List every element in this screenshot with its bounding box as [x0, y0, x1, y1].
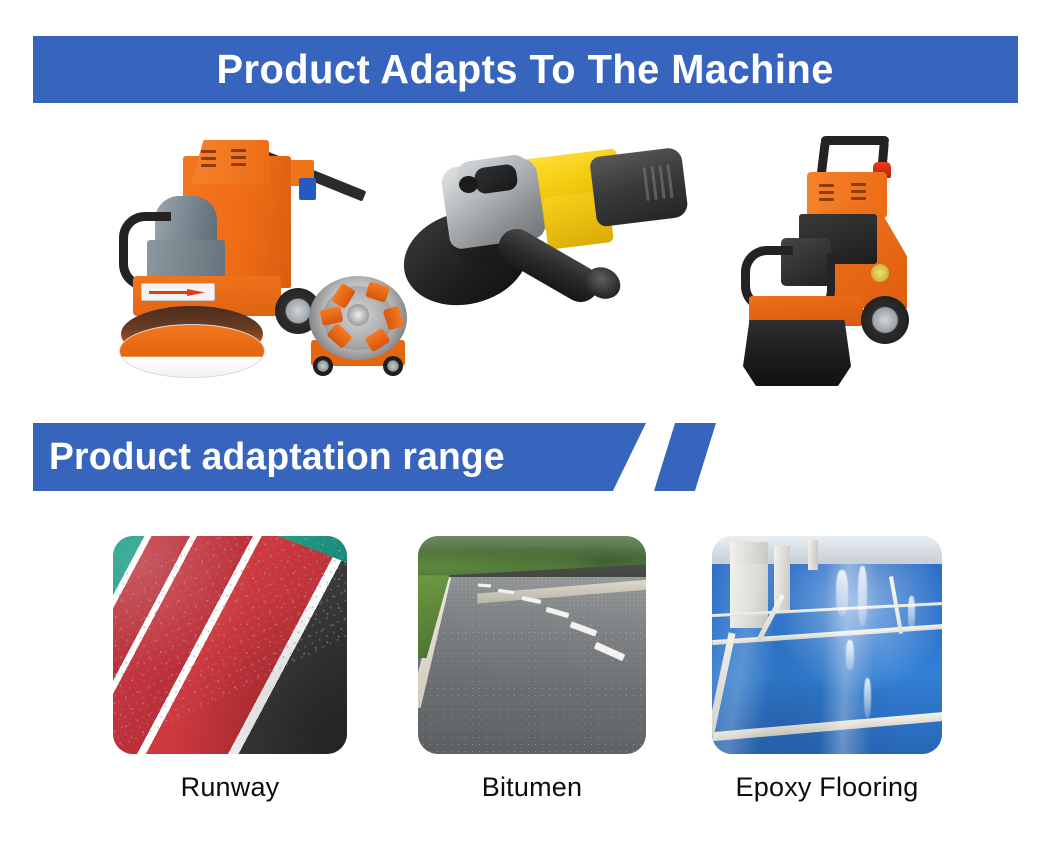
adaptation-card-epoxy-flooring[interactable]: Epoxy Flooring: [712, 536, 942, 803]
machine-image-row: [0, 128, 1060, 408]
adaptation-card-row: Runway Bitumen: [0, 536, 1060, 826]
range-banner-slash-icon: [654, 423, 716, 491]
grinder-disc-icon: [119, 324, 265, 378]
grinder-hood-icon: [191, 140, 269, 184]
card-caption: Epoxy Flooring: [712, 772, 942, 803]
grinder-plug-icon: [299, 178, 316, 200]
walk-behind-grinding-head-icon: [743, 320, 851, 386]
machine-image-walk-behind-floor-grinder: [725, 128, 990, 408]
product-banner-page: Product Adapts To The Machine: [0, 0, 1060, 855]
angle-grinder-motor-housing-icon: [589, 147, 689, 228]
card-caption: Bitumen: [418, 772, 646, 803]
card-caption: Runway: [113, 772, 347, 803]
grinder-arrow-label-icon: [141, 283, 215, 301]
disc-head-caster-left-icon: [313, 356, 333, 376]
header-banner: Product Adapts To The Machine: [33, 36, 1018, 103]
asphalt-road-surface-image: [418, 536, 646, 754]
range-section-title: Product adaptation range: [49, 423, 505, 491]
angle-grinder-knob-icon: [459, 176, 478, 193]
running-track-surface-image: [113, 536, 347, 754]
walk-behind-wheel-icon: [861, 296, 909, 344]
walk-behind-roller-icon: [871, 264, 889, 282]
range-banner: Product adaptation range: [33, 423, 683, 491]
adaptation-card-runway[interactable]: Runway: [113, 536, 347, 803]
epoxy-floor-surface-image: [712, 536, 942, 754]
adaptation-card-bitumen[interactable]: Bitumen: [418, 536, 646, 803]
grinding-head-hub-icon: [347, 304, 369, 326]
machine-image-angle-grinder: [395, 128, 665, 408]
machine-image-concrete-floor-grinder-with-disc-head: [95, 128, 385, 408]
page-title: Product Adapts To The Machine: [217, 49, 834, 90]
